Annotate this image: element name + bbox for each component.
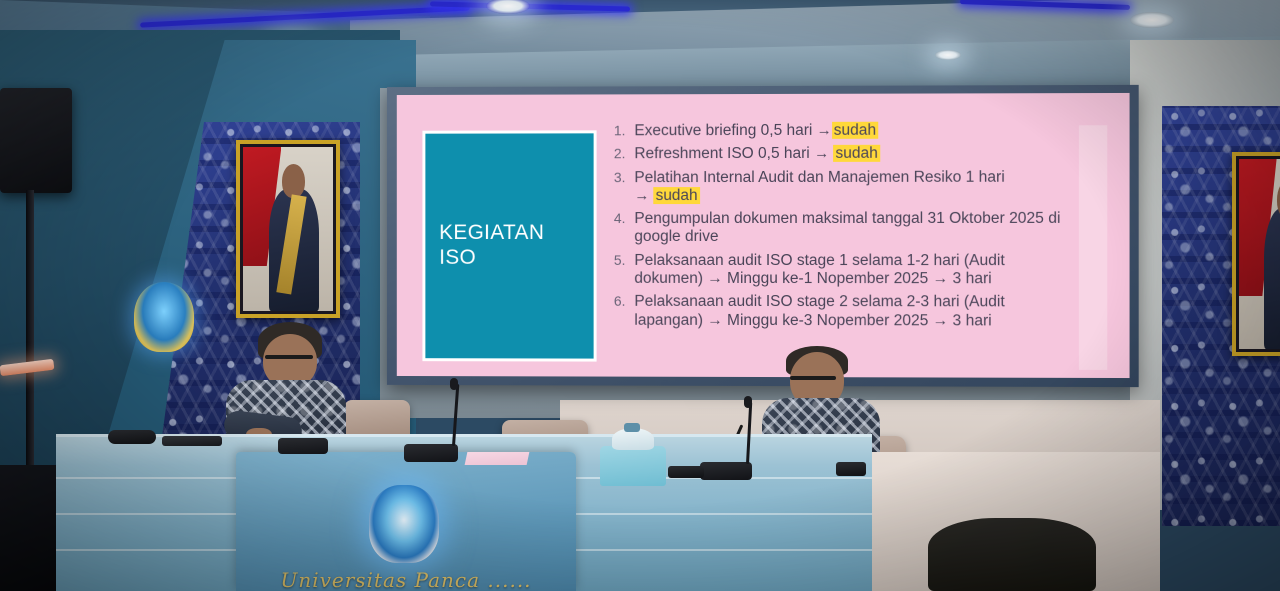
portrait-frame-right bbox=[1232, 152, 1280, 356]
podium-emblem-icon bbox=[369, 485, 439, 563]
desk-object bbox=[836, 462, 866, 476]
slide-title-line-1: KEGIATAN bbox=[439, 221, 544, 246]
arrow-icon: → bbox=[817, 122, 832, 139]
list-item: 6. Pelaksanaan audit ISO stage 2 selama … bbox=[610, 293, 1067, 330]
slide-title-line-2: ISO bbox=[439, 246, 544, 271]
foreground-chair bbox=[928, 518, 1096, 591]
list-item: 3. Pelatihan Internal Audit dan Manajeme… bbox=[610, 168, 1067, 205]
list-item-text: Pelaksanaan audit ISO stage 2 selama 2-3… bbox=[634, 293, 1066, 330]
list-item-text: Executive briefing 0,5 hari →sudah bbox=[634, 121, 1066, 140]
slide-bullet-list: 1. Executive briefing 0,5 hari →sudah 2.… bbox=[610, 121, 1067, 335]
list-item-number: 4. bbox=[610, 210, 626, 246]
remote-control bbox=[108, 430, 156, 444]
university-seal-icon bbox=[134, 282, 194, 352]
projection-screen: KEGIATAN ISO 1. Executive briefing 0,5 h… bbox=[387, 85, 1139, 387]
list-item-text: Pelatihan Internal Audit dan Manajemen R… bbox=[634, 168, 1066, 205]
highlight-badge: sudah bbox=[833, 145, 879, 162]
portrait-head bbox=[282, 164, 305, 198]
paper-sheet bbox=[465, 452, 530, 465]
list-item-number: 5. bbox=[610, 252, 626, 288]
list-item-pre: Pelatihan Internal Audit dan Manajemen R… bbox=[634, 168, 1004, 185]
downlight-icon bbox=[935, 50, 961, 60]
highlight-badge: sudah bbox=[654, 187, 700, 204]
list-item-text: Pelaksanaan audit ISO stage 1 selama 1-2… bbox=[634, 252, 1066, 289]
microphone-center-base bbox=[404, 444, 458, 462]
highlight-badge: sudah bbox=[832, 122, 878, 139]
downlight-icon bbox=[1130, 12, 1174, 28]
glasses-icon bbox=[790, 376, 836, 380]
conference-room-scene: KEGIATAN ISO 1. Executive briefing 0,5 h… bbox=[0, 0, 1280, 591]
desk-object bbox=[668, 466, 704, 478]
microphone-left-base bbox=[278, 438, 328, 454]
list-item-text: Pengumpulan dokumen maksimal tanggal 31 … bbox=[634, 210, 1066, 247]
slide-title-box: KEGIATAN ISO bbox=[422, 130, 596, 361]
list-item: 4. Pengumpulan dokumen maksimal tanggal … bbox=[610, 210, 1067, 247]
list-item: 2. Refreshment ISO 0,5 hari → sudah bbox=[610, 145, 1067, 164]
microphone-right-base bbox=[700, 462, 752, 480]
list-item-number: 3. bbox=[610, 169, 626, 205]
list-item: 1. Executive briefing 0,5 hari →sudah bbox=[610, 121, 1067, 140]
loudspeaker bbox=[0, 88, 72, 193]
water-dispenser-cap bbox=[624, 423, 640, 432]
podium: Universitas Panca ...... bbox=[236, 452, 576, 591]
arrow-icon: → bbox=[634, 187, 649, 204]
portrait-frame-left bbox=[236, 140, 340, 318]
presentation-slide: KEGIATAN ISO 1. Executive briefing 0,5 h… bbox=[397, 93, 1130, 378]
portrait-figure bbox=[1264, 208, 1280, 349]
list-item-number: 1. bbox=[610, 122, 626, 140]
podium-script-text: Universitas Panca ...... bbox=[236, 568, 576, 591]
speaker-base bbox=[0, 465, 62, 591]
list-item: 5. Pelaksanaan audit ISO stage 1 selama … bbox=[610, 252, 1067, 289]
microphone-center-head bbox=[450, 378, 458, 390]
laptop bbox=[162, 436, 222, 446]
water-dispenser bbox=[600, 446, 666, 486]
arrow-icon: → bbox=[814, 145, 829, 162]
microphone-right-head bbox=[744, 396, 752, 408]
slide-accent-band bbox=[1079, 125, 1107, 370]
list-item-pre: Executive briefing 0,5 hari bbox=[634, 122, 816, 139]
list-item-number: 6. bbox=[610, 293, 626, 329]
list-item-pre: Refreshment ISO 0,5 hari bbox=[634, 145, 814, 162]
speaker-stand bbox=[26, 190, 34, 475]
list-item-number: 2. bbox=[610, 146, 626, 164]
glasses-icon bbox=[265, 355, 313, 359]
slide-title: KEGIATAN ISO bbox=[425, 221, 544, 270]
list-item-text: Refreshment ISO 0,5 hari → sudah bbox=[634, 145, 1066, 164]
